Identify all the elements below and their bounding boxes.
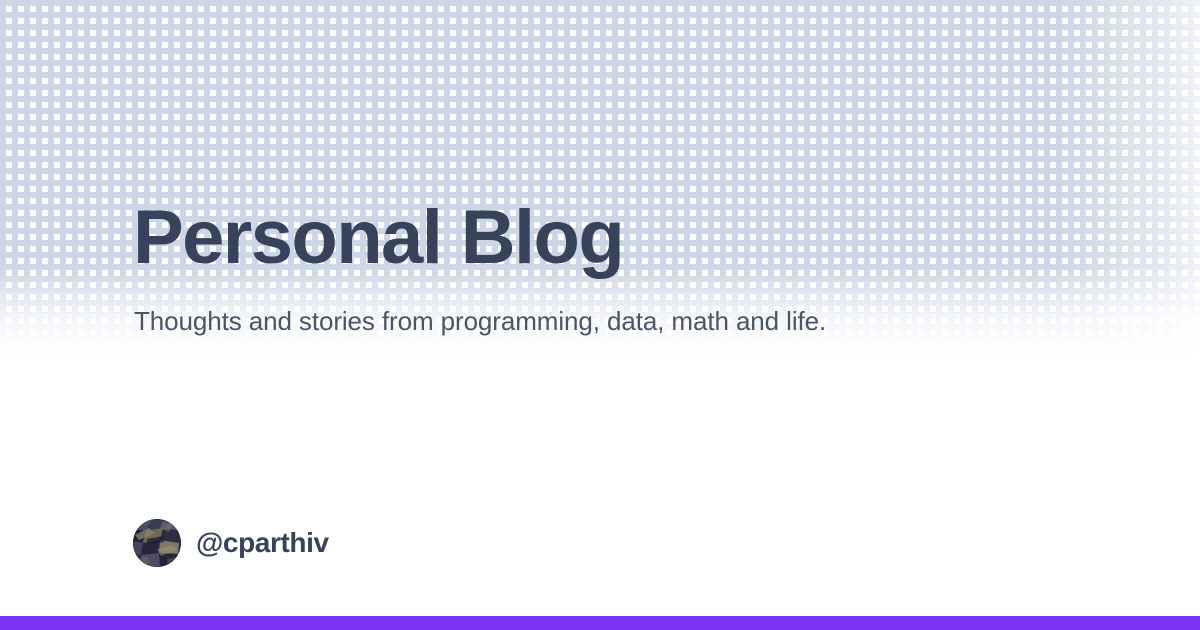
author-handle: @cparthiv — [196, 527, 329, 559]
social-preview-card: Personal Blog Thoughts and stories from … — [0, 0, 1200, 630]
card-content: Personal Blog Thoughts and stories from … — [0, 0, 1200, 630]
avatar — [133, 519, 181, 567]
author-block: @cparthiv — [133, 519, 329, 567]
page-subtitle: Thoughts and stories from programming, d… — [134, 304, 826, 338]
page-title: Personal Blog — [133, 196, 623, 280]
accent-bar — [0, 616, 1200, 630]
